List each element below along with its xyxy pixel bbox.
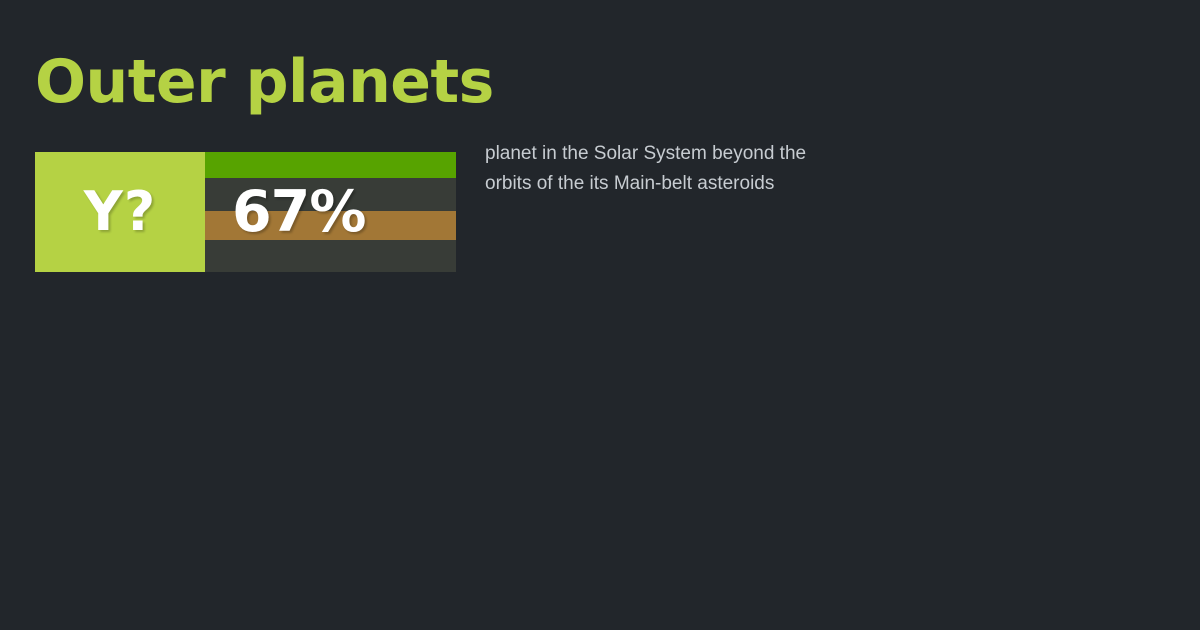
- stat-badge: Y? 67%: [35, 152, 456, 272]
- badge-right-panel: 67%: [205, 152, 456, 272]
- badge-left-panel: Y?: [35, 152, 205, 272]
- page-root: Outer planets Y? 67% planet in the Solar…: [0, 0, 1200, 630]
- badge-percent-label: 67%: [232, 152, 365, 272]
- page-title: Outer planets: [35, 46, 494, 118]
- description-text: planet in the Solar System beyond the or…: [485, 139, 845, 199]
- badge-left-label: Y?: [84, 185, 156, 239]
